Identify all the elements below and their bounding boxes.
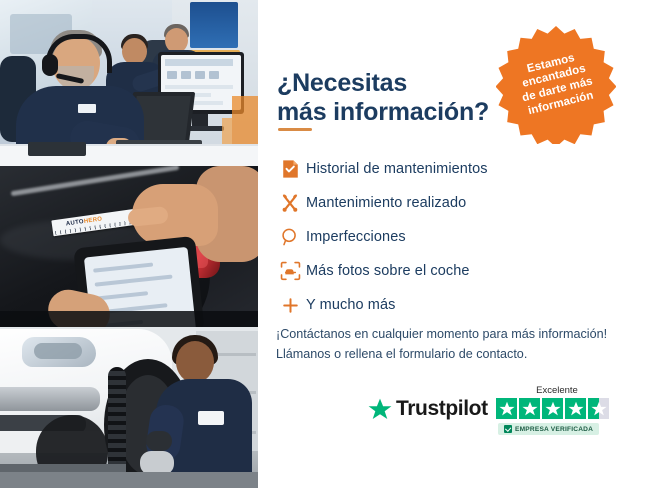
car-scan-icon <box>274 261 306 281</box>
page-title: ¿Necesitas más información? <box>277 69 527 128</box>
photo-column: AUTOHERO <box>0 0 258 488</box>
contact-line-2: Llámanos o rellena el formulario de cont… <box>276 347 527 361</box>
feature-item-imperfections: Imperfecciones <box>274 220 604 254</box>
feature-list: Historial de mantenimientos M <box>274 152 604 322</box>
magnifier-icon <box>274 227 306 247</box>
verified-company-badge: EMPRESA VERIFICADA <box>498 423 599 435</box>
headset-icon <box>483 36 504 57</box>
star-filled <box>542 398 563 419</box>
feature-item-more-photos: Más fotos sobre el coche <box>274 254 604 288</box>
inspection-ruler-photo: AUTOHERO <box>0 166 258 327</box>
feature-label: Y mucho más <box>306 297 395 313</box>
feature-item-maintenance-history: Historial de mantenimientos <box>274 152 604 186</box>
tools-icon <box>274 193 306 213</box>
feature-item-much-more: Y mucho más <box>274 288 604 322</box>
trustpilot-logo: Trustpilot <box>368 397 488 421</box>
trustpilot-rating-label: Excelente <box>498 385 616 396</box>
star-filled <box>565 398 586 419</box>
feature-label: Más fotos sobre el coche <box>306 263 470 279</box>
feature-item-maintenance-done: Mantenimiento realizado <box>274 186 604 220</box>
trustpilot-widget[interactable]: Trustpilot Excelente <box>368 385 633 447</box>
verified-company-label: EMPRESA VERIFICADA <box>515 426 593 433</box>
verified-check-icon <box>504 425 512 433</box>
star-half <box>588 398 609 419</box>
star-filled <box>519 398 540 419</box>
feature-label: Historial de mantenimientos <box>306 161 488 177</box>
trustpilot-star-icon <box>368 398 392 421</box>
contact-text: ¡Contáctanos en cualquier momento para m… <box>276 325 636 364</box>
page-title-line-2: más información? <box>277 98 489 126</box>
plus-icon <box>274 296 306 315</box>
feature-label: Imperfecciones <box>306 229 406 245</box>
badge-text: Estamos encantados de darte más informac… <box>501 46 611 123</box>
trustpilot-name: Trustpilot <box>396 397 488 421</box>
page-title-line-1: ¿Necesitas <box>277 69 407 97</box>
contact-line-1: ¡Contáctanos en cualquier momento para m… <box>276 327 607 341</box>
trustpilot-stars <box>496 398 626 419</box>
feature-label: Mantenimiento realizado <box>306 195 466 211</box>
mechanic-wheel-photo <box>0 327 258 488</box>
info-promo-card: AUTOHERO <box>0 0 650 488</box>
document-check-icon <box>274 159 306 179</box>
star-filled <box>496 398 517 419</box>
info-badge: Estamos encantados de darte más informac… <box>496 24 616 144</box>
content-panel: ¿Necesitas más información? Estamos enca… <box>258 0 650 488</box>
call-center-agents-photo <box>0 0 258 166</box>
title-divider <box>278 128 312 131</box>
